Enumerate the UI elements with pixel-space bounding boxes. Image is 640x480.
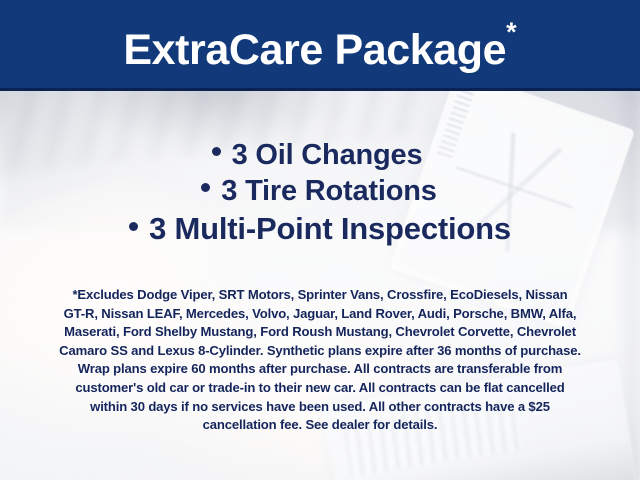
benefits-list: 3 Oil Changes 3 Tire Rotations 3 Multi-P… xyxy=(0,140,640,245)
disclaimer-line: *Excludes Dodge Viper, SRT Motors, Sprin… xyxy=(28,286,612,305)
list-item: 3 Oil Changes xyxy=(0,140,640,170)
disclaimer-line: Maserati, Ford Shelby Mustang, Ford Rous… xyxy=(28,323,612,342)
disclaimer-line: Wrap plans expire 60 months after purcha… xyxy=(28,360,612,379)
bullet-dot-icon xyxy=(129,222,138,231)
disclaimer-text: *Excludes Dodge Viper, SRT Motors, Sprin… xyxy=(28,286,612,435)
list-item: 3 Tire Rotations xyxy=(0,176,640,206)
disclaimer-line: Camaro SS and Lexus 8-Cylinder. Syntheti… xyxy=(28,342,612,361)
header-band: ExtraCare Package* xyxy=(0,0,640,91)
benefit-label: 3 Tire Rotations xyxy=(221,175,436,207)
benefit-label: 3 Multi-Point Inspections xyxy=(149,211,511,246)
disclaimer-line: cancellation fee. See dealer for details… xyxy=(28,416,612,435)
bullet-dot-icon xyxy=(212,147,221,156)
disclaimer-line: customer's old car or trade-in to their … xyxy=(28,379,612,398)
benefit-label: 3 Oil Changes xyxy=(232,139,423,171)
list-item: 3 Multi-Point Inspections xyxy=(0,213,640,246)
page-title-text: ExtraCare Package xyxy=(123,26,506,74)
disclaimer-line: within 30 days if no services have been … xyxy=(28,398,612,417)
bullet-dot-icon xyxy=(201,183,210,192)
page-title: ExtraCare Package* xyxy=(0,19,640,72)
asterisk-marker: * xyxy=(506,17,517,47)
extracare-promo-card: ExtraCare Package* 3 Oil Changes 3 Tire … xyxy=(0,0,640,480)
disclaimer-line: GT-R, Nissan LEAF, Mercedes, Volvo, Jagu… xyxy=(28,305,612,324)
